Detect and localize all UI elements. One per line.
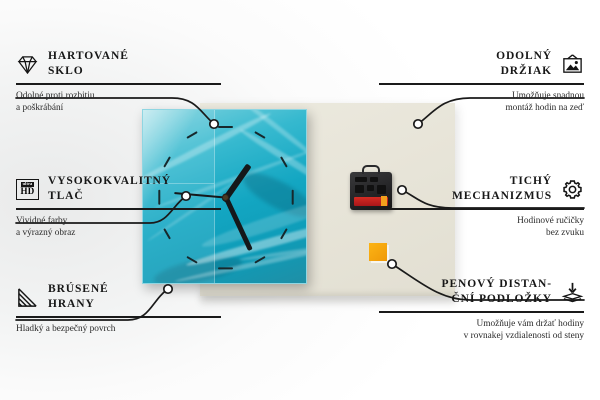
feature-desc-line1: Odolné proti rozbitiu xyxy=(16,90,221,102)
feature-desc-line2: montáž hodin na zeď xyxy=(379,102,584,114)
gear-icon xyxy=(561,178,584,201)
feature-title-line2: SKLO xyxy=(48,64,129,79)
feature-title-line1: PENOVÝ DISTAN- xyxy=(442,277,552,292)
mechanism-vent xyxy=(355,185,364,193)
feature-polished-edges[interactable]: BRÚSENÉ HRANY Hladký a bezpečný povrch xyxy=(16,282,221,335)
feature-divider xyxy=(379,311,584,313)
foam-spacer-pad xyxy=(369,243,387,261)
feature-title-line1: TICHÝ xyxy=(452,174,552,189)
clock-tick xyxy=(218,267,233,269)
feature-title-line1: BRÚSENÉ xyxy=(48,282,109,297)
foam-pad-icon xyxy=(561,281,584,304)
mechanism-hanger-loop xyxy=(362,165,380,174)
clock-tick xyxy=(218,126,233,128)
feature-desc-line1: Vividné farby xyxy=(16,215,221,227)
feature-desc-line2: a výrazný obraz xyxy=(16,227,221,239)
clock-center-hub xyxy=(222,194,229,201)
feature-durable-hanger[interactable]: ODOLNÝ DRŽIAK Umožňuje snadnou montáž ho… xyxy=(379,49,584,114)
infographic-canvas: HARTOVANÉ SKLO Odolné proti rozbitiu a p… xyxy=(0,0,600,400)
feature-heading: ultra HD VYSOKOKVALITNÝ TLAČ xyxy=(16,174,221,204)
feature-title-line1: VYSOKOKVALITNÝ xyxy=(48,174,171,189)
feature-desc-line2: bez zvuku xyxy=(379,227,584,239)
clock-tick xyxy=(291,190,293,205)
feature-divider xyxy=(16,316,221,318)
feature-hardened-glass[interactable]: HARTOVANÉ SKLO Odolné proti rozbitiu a p… xyxy=(16,49,221,114)
feature-heading: PENOVÝ DISTAN- ČNÍ PODLOŽKY xyxy=(379,277,584,307)
feature-title-line2: ČNÍ PODLOŽKY xyxy=(442,292,552,307)
feature-title-line2: HRANY xyxy=(48,297,109,312)
brushed-edges-icon xyxy=(16,286,39,309)
ultra-hd-icon: ultra HD xyxy=(16,179,39,200)
feature-divider xyxy=(379,208,584,210)
feature-divider xyxy=(16,208,221,210)
feature-heading: TICHÝ MECHANIZMUS xyxy=(379,174,584,204)
feature-desc-line1: Umožňuje snadnou xyxy=(379,90,584,102)
feature-heading: HARTOVANÉ SKLO xyxy=(16,49,221,79)
feature-desc-line1: Hodinové ručičky xyxy=(379,215,584,227)
feature-heading: BRÚSENÉ HRANY xyxy=(16,282,221,312)
feature-divider xyxy=(379,83,584,85)
diamond-icon xyxy=(16,53,39,76)
mechanism-vent xyxy=(370,177,378,182)
feature-desc-line2: a poškrábání xyxy=(16,102,221,114)
feature-foam-spacers[interactable]: PENOVÝ DISTAN- ČNÍ PODLOŽKY Umožňuje vám… xyxy=(379,277,584,342)
feature-title-line2: TLAČ xyxy=(48,189,171,204)
feature-title-line1: ODOLNÝ xyxy=(496,49,552,64)
feature-title-line1: HARTOVANÉ xyxy=(48,49,129,64)
feature-divider xyxy=(16,83,221,85)
feature-silent-mechanism[interactable]: TICHÝ MECHANIZMUS Hodinové ručičky bez z… xyxy=(379,174,584,239)
feature-desc-line1: Hladký a bezpečný povrch xyxy=(16,323,221,335)
mechanism-vent xyxy=(367,185,374,191)
glass-panel-quadrant xyxy=(143,110,215,184)
picture-frame-icon xyxy=(561,53,584,76)
feature-desc-line2: v rovnakej vzdialenosti od steny xyxy=(379,330,584,342)
feature-title-line2: DRŽIAK xyxy=(496,64,552,79)
ultra-hd-icon-hd: HD xyxy=(21,187,35,196)
feature-title-line2: MECHANIZMUS xyxy=(452,189,552,204)
feature-heading: ODOLNÝ DRŽIAK xyxy=(379,49,584,79)
mechanism-vent xyxy=(355,177,367,182)
feature-desc-line1: Umožňuje vám držať hodiny xyxy=(379,318,584,330)
feature-high-quality-print[interactable]: ultra HD VYSOKOKVALITNÝ TLAČ Vividné far… xyxy=(16,174,221,239)
